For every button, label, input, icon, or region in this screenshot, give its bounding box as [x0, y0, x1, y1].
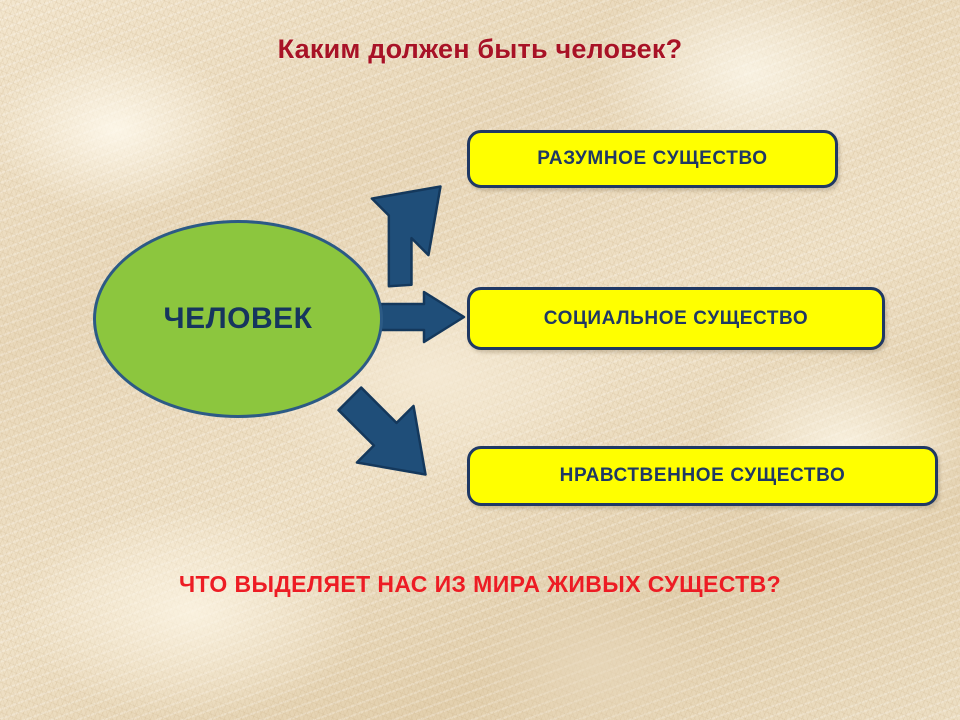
branch-box-social[interactable]: СОЦИАЛЬНОЕ СУЩЕСТВО — [467, 287, 885, 350]
center-node-label: ЧЕЛОВЕК — [164, 302, 313, 336]
arrow-right-icon — [381, 292, 464, 342]
branch-box-social-label: СОЦИАЛЬНОЕ СУЩЕСТВО — [544, 308, 809, 330]
bottom-question-text: ЧТО ВЫДЕЛЯЕТ НАС ИЗ МИРА ЖИВЫХ СУЩЕСТВ? — [0, 571, 960, 598]
slide-canvas: Каким должен быть человек? ЧЕЛОВЕК РАЗУМ… — [0, 0, 960, 720]
branch-box-rational-label: РАЗУМНОЕ СУЩЕСТВО — [537, 148, 767, 170]
branch-box-moral-label: НРАВСТВЕННОЕ СУЩЕСТВО — [560, 465, 846, 487]
branch-box-rational[interactable]: РАЗУМНОЕ СУЩЕСТВО — [467, 130, 838, 188]
branch-box-moral[interactable]: НРАВСТВЕННОЕ СУЩЕСТВО — [467, 446, 938, 506]
arrow-down-right-icon — [322, 371, 454, 503]
center-node-chelovek[interactable]: ЧЕЛОВЕК — [93, 220, 383, 418]
page-title: Каким должен быть человек? — [0, 34, 960, 65]
